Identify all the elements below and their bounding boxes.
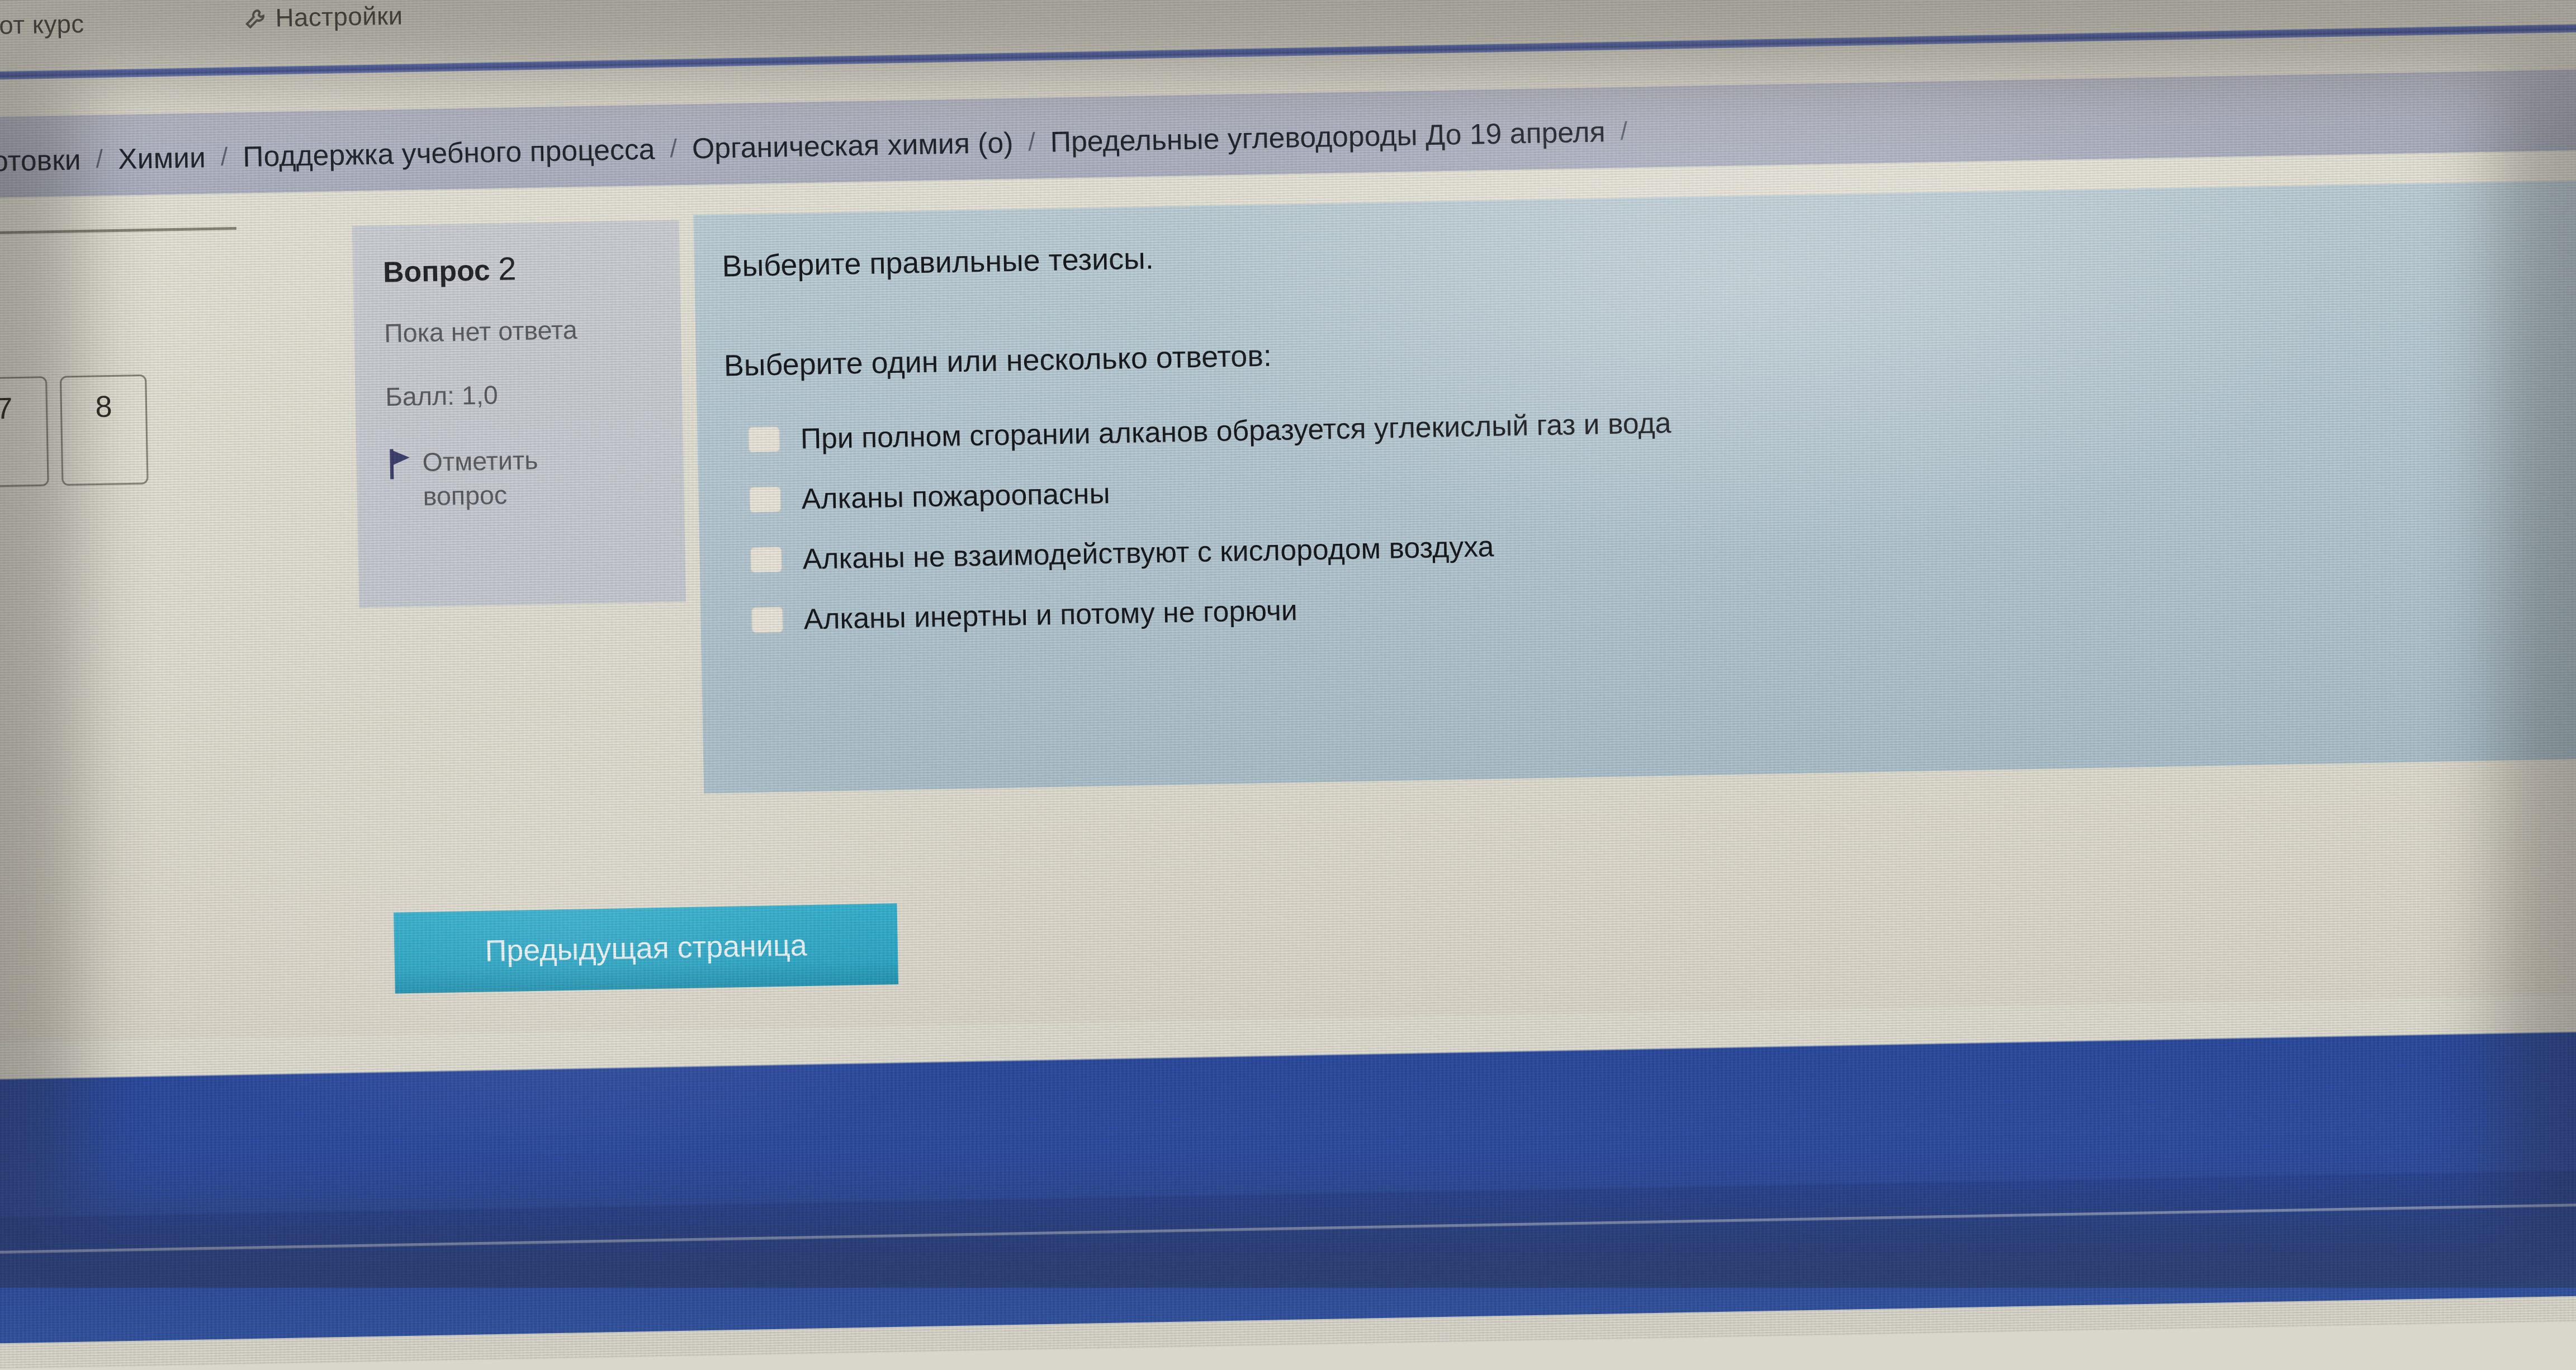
checkbox-icon[interactable]	[748, 426, 780, 453]
breadcrumb-separator: /	[657, 134, 690, 164]
question-number-value: 2	[498, 250, 517, 287]
flag-label-line-2: вопрос	[423, 480, 507, 511]
flag-question-label: Отметить вопрос	[422, 443, 539, 514]
question-status: Пока нет ответа	[384, 313, 681, 349]
checkbox-icon[interactable]	[750, 547, 782, 573]
nav-item-this-course[interactable]: Этот курс	[0, 10, 84, 42]
breadcrumb-item-0[interactable]: подготовки	[0, 143, 83, 179]
breadcrumb-separator: /	[208, 143, 241, 172]
flag-question-control[interactable]: Отметить вопрос	[386, 440, 684, 515]
answer-option-label: Алканы пожароопасны	[801, 476, 1110, 515]
question-content-panel: Выберите правильные тезисы. Выберите оди…	[693, 179, 2576, 793]
question-nav-box-7[interactable]: 7	[0, 376, 49, 487]
nav-item-settings[interactable]: Настройки	[244, 2, 403, 34]
nav-item-settings-label: Настройки	[275, 2, 403, 33]
question-info-panel: Вопрос 2 Пока нет ответа Балл: 1,0 Отмет…	[352, 220, 686, 608]
previous-page-button[interactable]: Предыдущая страница	[394, 903, 898, 993]
answer-option-label: Алканы не взаимодействуют с кислородом в…	[802, 530, 1494, 576]
checkbox-icon[interactable]	[751, 607, 783, 633]
footer-divider	[0, 1202, 2576, 1254]
breadcrumb-item-4[interactable]: Предельные углеводороды До 19 апреля	[1048, 115, 1608, 159]
breadcrumb-separator: /	[1607, 117, 1640, 146]
question-number-heading: Вопрос 2	[383, 246, 680, 290]
breadcrumb-item-2[interactable]: Поддержка учебного процесса	[240, 132, 657, 174]
breadcrumb-item-1[interactable]: Химии	[115, 141, 208, 176]
checkbox-icon[interactable]	[749, 487, 781, 513]
question-number-label: Вопрос	[383, 254, 491, 288]
question-nav-block: 7 8	[0, 375, 149, 488]
question-score: Балл: 1,0	[385, 377, 683, 413]
breadcrumb-separator: /	[83, 145, 116, 174]
wrench-icon	[244, 6, 266, 32]
page-footer	[0, 994, 2576, 1344]
question-nav-box-8[interactable]: 8	[60, 375, 149, 486]
answer-option-label: Алканы инертны и потому не горючи	[803, 594, 1298, 636]
breadcrumb-separator: /	[1015, 127, 1048, 157]
screen-photo: Этот курс Настройки подготовки / Химии /…	[0, 0, 2576, 1335]
breadcrumb-item-3[interactable]: Органическая химия (о)	[689, 126, 1016, 165]
nav-item-this-course-label: Этот курс	[0, 10, 84, 41]
flag-label-line-1: Отметить	[422, 445, 538, 477]
answer-options-list: При полном сгорании алканов образуется у…	[748, 375, 2576, 650]
answer-option-label: При полном сгорании алканов образуется у…	[800, 406, 1671, 456]
question-prompt: Выберите один или несколько ответов:	[723, 313, 2576, 383]
flag-icon[interactable]	[386, 449, 411, 480]
question-text: Выберите правильные тезисы.	[722, 214, 2576, 284]
